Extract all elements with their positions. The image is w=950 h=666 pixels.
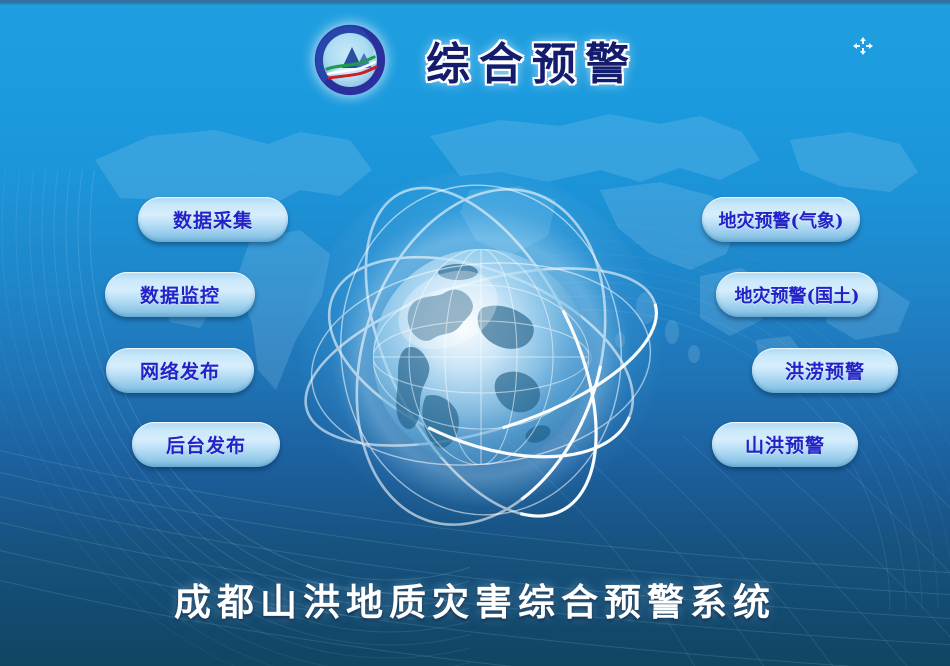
menu-button-geo-warning-meteorology[interactable]: 地灾预警(气象) [702, 197, 860, 242]
menu-button-label: 数据采集 [173, 206, 253, 233]
arc-texture-right [550, 180, 950, 610]
page-title: 综合预警 [426, 28, 638, 92]
app-header: 综合预警 [0, 14, 950, 106]
menu-button-data-collection[interactable]: 数据采集 [138, 197, 288, 242]
menu-button-label: 后台发布 [166, 431, 246, 458]
menu-button-backend-publish[interactable]: 后台发布 [132, 422, 280, 467]
globe-glow [300, 170, 660, 530]
system-title: 成都山洪地质灾害综合预警系统 [0, 572, 950, 626]
menu-button-label: 洪涝预警 [785, 357, 865, 384]
menu-button-label: 山洪预警 [745, 431, 825, 458]
menu-button-flood-warning[interactable]: 洪涝预警 [752, 348, 898, 393]
menu-button-data-monitoring[interactable]: 数据监控 [105, 272, 255, 317]
arc-texture-left [0, 170, 470, 666]
window-top-strip [0, 0, 950, 5]
menu-button-label: 地灾预警(气象) [718, 207, 843, 233]
world-map-watermark [0, 40, 950, 470]
menu-button-geo-warning-land[interactable]: 地灾预警(国土) [716, 272, 878, 317]
menu-button-mountain-flood-warning[interactable]: 山洪预警 [712, 422, 858, 467]
disaster-warning-emblem-icon [312, 22, 388, 98]
perspective-grid-texture [0, 436, 950, 666]
menu-button-label: 数据监控 [140, 281, 220, 308]
menu-button-web-publish[interactable]: 网络发布 [106, 348, 254, 393]
menu-button-label: 网络发布 [140, 357, 220, 384]
menu-button-label: 地灾预警(国土) [734, 282, 859, 308]
warning-system-home-screen: 综合预警 数据采集 数据监控 网络发布 后台发布 地灾预警(气象) 地灾预警(国… [0, 0, 950, 666]
orbiting-globe-graphic [286, 152, 676, 552]
move-cursor-icon[interactable] [853, 37, 873, 55]
